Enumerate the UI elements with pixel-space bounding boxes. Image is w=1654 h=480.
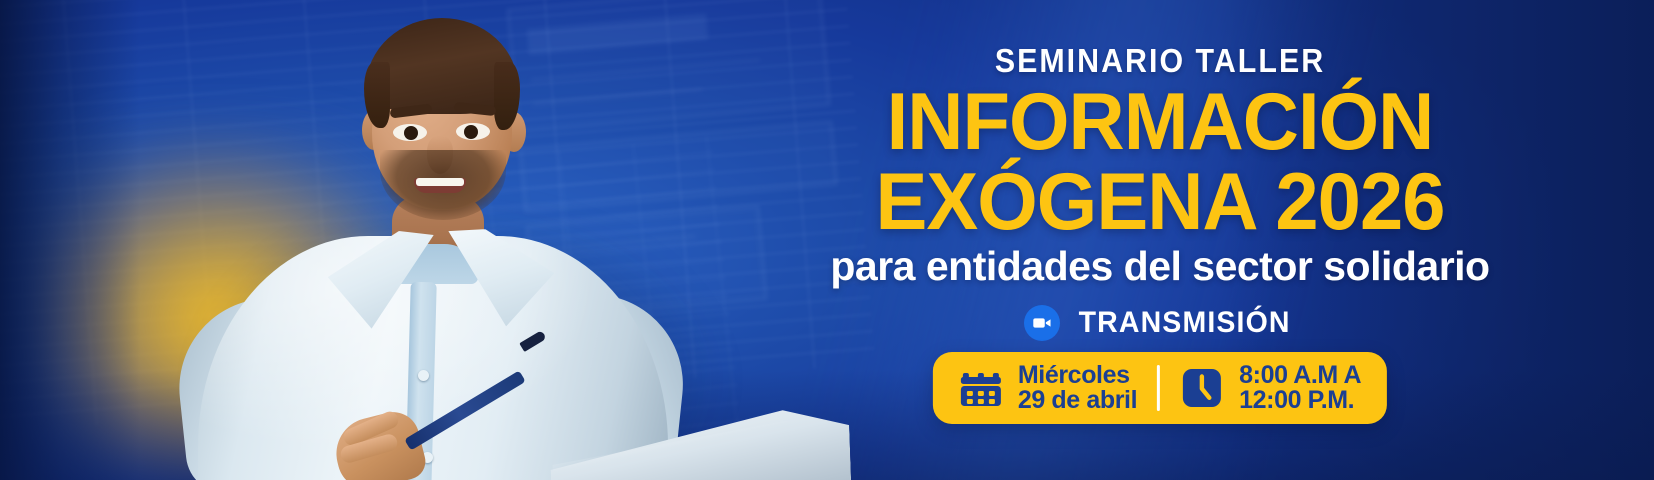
presenter-pupil-right [464, 125, 478, 139]
banner-subtitle: para entidades del sector solidario [666, 246, 1654, 287]
calendar-icon [959, 366, 1003, 410]
transmission-label: TRANSMISIÓN [1078, 308, 1290, 338]
pill-divider [1157, 365, 1160, 411]
schedule-date-line-2: 29 de abril [1018, 388, 1137, 414]
banner-content: SEMINARIO TALLER INFORMACIÓN EXÓGENA 202… [666, 0, 1654, 480]
presenter-shirt-button [418, 370, 429, 381]
schedule-date-text: Miércoles 29 de abril [1018, 363, 1137, 414]
schedule-time-line-2: 12:00 P.M. [1239, 388, 1361, 414]
schedule-date-group: Miércoles 29 de abril [959, 363, 1137, 414]
schedule-pill: Miércoles 29 de abril 8:00 A.M A 12:00 P… [933, 352, 1387, 424]
video-camera-icon [1024, 305, 1060, 341]
schedule-date-line-1: Miércoles [1018, 363, 1137, 389]
seminar-promo-banner: SEMINARIO TALLER INFORMACIÓN EXÓGENA 202… [0, 0, 1654, 480]
schedule-time-line-1: 8:00 A.M A [1239, 363, 1361, 389]
transmission-row: TRANSMISIÓN [666, 305, 1654, 341]
schedule-time-text: 8:00 A.M A 12:00 P.M. [1239, 363, 1361, 414]
banner-title-line-1: INFORMACIÓN [686, 84, 1634, 160]
banner-title-line-2: EXÓGENA 2026 [686, 164, 1634, 240]
presenter-mouth [414, 178, 466, 193]
presenter-pupil-left [404, 126, 418, 140]
banner-kicker: SEMINARIO TALLER [706, 44, 1615, 77]
clock-icon [1180, 366, 1224, 410]
schedule-time-group: 8:00 A.M A 12:00 P.M. [1180, 363, 1361, 414]
presenter-teeth [416, 178, 464, 186]
